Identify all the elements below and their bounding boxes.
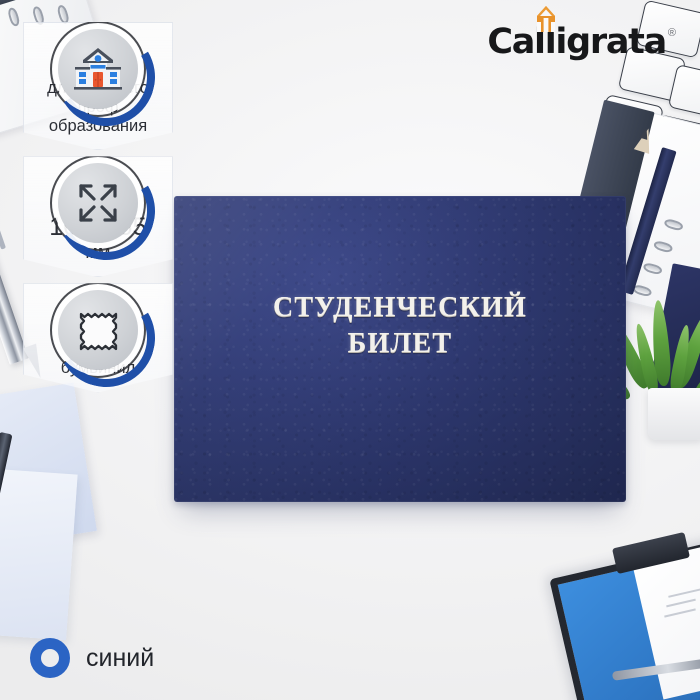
color-ring-icon xyxy=(30,638,70,678)
badge-face-2 xyxy=(58,163,138,243)
fabric-swatch-icon xyxy=(74,306,122,354)
color-swatch-row: синий xyxy=(30,638,154,678)
school-building-icon xyxy=(72,46,124,92)
booklet-cover: СТУДЕНЧЕСКИЙ БИЛЕТ xyxy=(174,196,626,502)
blue-sticky-note-b xyxy=(0,466,78,641)
cover-title-line-1: СТУДЕНЧЕСКИЙ xyxy=(174,292,626,324)
badge-dimensions: 100 x 65мм xyxy=(18,156,178,277)
cover-title-line-2: БИЛЕТ xyxy=(174,328,626,360)
brand-logo: Calligrata ® xyxy=(487,22,676,62)
badge-education-level: для среднего проф образования xyxy=(18,22,178,150)
booklet-cover-title: СТУДЕНЧЕСКИЙ БИЛЕТ xyxy=(174,292,626,360)
badge-education-panel: для среднего проф образования xyxy=(23,22,173,150)
pen-clip-left xyxy=(0,206,6,249)
plant-pot xyxy=(648,388,700,440)
registered-mark: ® xyxy=(668,27,676,39)
student-id-booklet: СТУДЕНЧЕСКИЙ БИЛЕТ xyxy=(174,196,626,502)
badge-face-1 xyxy=(58,29,138,109)
color-label: синий xyxy=(86,644,154,673)
badge-dimensions-panel: 100 x 65мм xyxy=(23,156,173,277)
brand-wordmark: Calligrata xyxy=(487,22,666,62)
badge-dimensions-disc xyxy=(50,155,146,251)
badge-face-3 xyxy=(58,290,138,370)
badge-material: обложка бумвинил xyxy=(18,283,178,392)
expand-arrows-icon xyxy=(74,179,122,227)
badge-material-disc xyxy=(50,282,146,378)
feature-badge-rail: для среднего проф образования xyxy=(18,22,188,399)
pencil-nib-icon xyxy=(531,5,561,33)
product-image-scene: Calligrata ® СТУДЕНЧЕСКИЙ БИЛЕТ xyxy=(0,0,700,700)
badge-education-disc xyxy=(50,21,146,117)
badge-material-panel: обложка бумвинил xyxy=(23,283,173,392)
